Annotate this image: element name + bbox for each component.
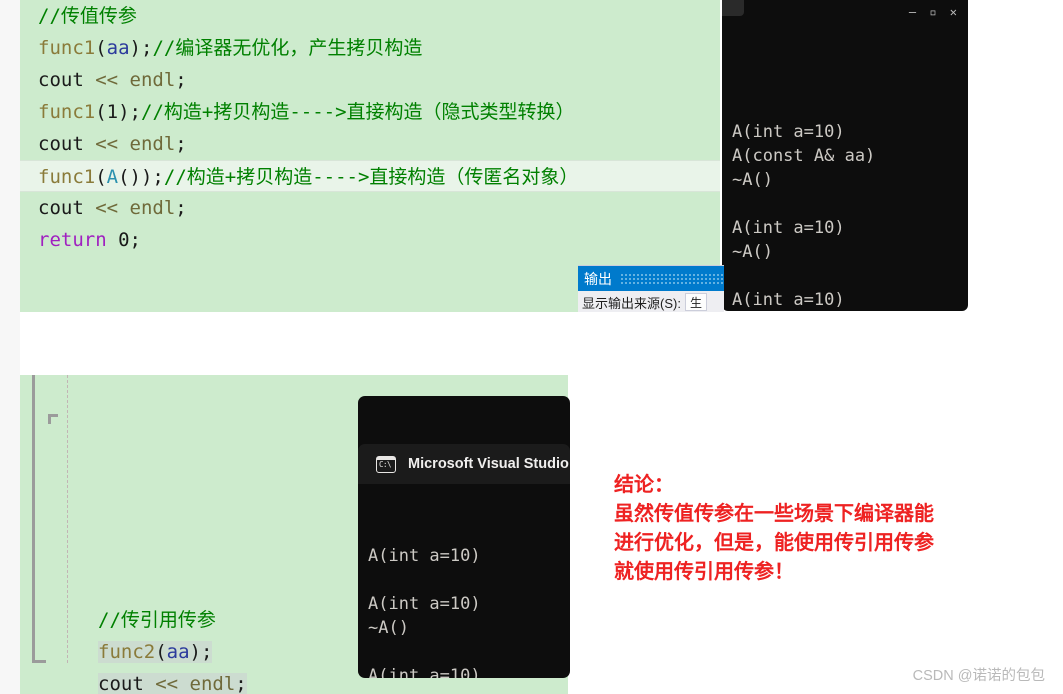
- code-token: <<: [95, 133, 129, 155]
- csdn-watermark: CSDN @诺诺的包包: [913, 664, 1045, 685]
- code-line[interactable]: func1(A());//构造+拷贝构造---->直接构造（传匿名对象）: [20, 160, 720, 192]
- code-token: endl: [190, 673, 236, 694]
- code-token: ;: [175, 69, 186, 91]
- code-line-text: func2(aa);: [98, 641, 212, 663]
- code-token: ;: [175, 133, 186, 155]
- code-line-text: cout << endl;: [38, 133, 187, 155]
- code-token: ());: [118, 166, 164, 188]
- code-line-text: cout << endl;: [38, 69, 187, 91]
- code-token: func1: [38, 166, 95, 188]
- code-token: (: [155, 641, 166, 663]
- console-line: A(int a=10): [732, 288, 968, 311]
- console-window-title: Microsoft Visual Studio: [408, 452, 569, 476]
- console-top-output: A(int a=10)A(const A& aa)~A()A(int a=10)…: [732, 120, 968, 311]
- code-line[interactable]: //传值传参: [20, 0, 720, 32]
- code-token: //编译器无优化，产生拷贝构造: [152, 37, 422, 59]
- code-token: cout: [38, 69, 95, 91]
- console-blank-line: [368, 640, 570, 664]
- console-line: A(int a=10): [368, 592, 570, 616]
- output-source-label: 显示输出来源(S):: [582, 293, 681, 312]
- console-line: A(const A& aa): [732, 144, 968, 168]
- code-token: cout: [98, 673, 155, 694]
- code-token: <<: [95, 69, 129, 91]
- screenshot-root: //传值传参func1(aa);//编译器无优化，产生拷贝构造cout << e…: [0, 0, 1063, 694]
- console-line: ~A(): [368, 616, 570, 640]
- code-token: (: [95, 166, 106, 188]
- code-line-text: return 0;: [38, 229, 141, 251]
- region-bracket-stem: [48, 414, 51, 424]
- code-token: 1: [107, 101, 118, 123]
- code-line[interactable]: cout << endl;: [20, 128, 720, 160]
- console-top-tab-stub: [722, 0, 744, 16]
- console-line: ~A(): [732, 168, 968, 192]
- output-toolbar: 显示输出来源(S): 生: [578, 291, 724, 312]
- console-line: ~A(): [732, 240, 968, 264]
- code-token: //传引用传参: [98, 609, 216, 631]
- code-token: return: [38, 229, 118, 251]
- code-token: ;: [235, 673, 246, 694]
- tab-output[interactable]: 输出: [584, 269, 612, 289]
- console-blank-line: [368, 568, 570, 592]
- code-line-text: func1(1);//构造+拷贝构造---->直接构造（隐式类型转换）: [38, 101, 575, 123]
- console-line: A(int a=10): [368, 544, 570, 568]
- conclusion-note: 结论： 虽然传值传参在一些场景下编译器能 进行优化，但是，能使用传引用传参 就使…: [614, 470, 1034, 586]
- code-line[interactable]: cout << endl;: [20, 64, 720, 96]
- code-token: func1: [38, 37, 95, 59]
- console-titlebar[interactable]: C:\ Microsoft Visual Studio: [358, 444, 570, 484]
- output-tabstrip[interactable]: 输出: [578, 266, 724, 291]
- code-token: ;: [130, 229, 141, 251]
- tabstrip-drag-dots[interactable]: [620, 273, 724, 285]
- code-token: 0: [118, 229, 129, 251]
- code-token: );: [130, 37, 153, 59]
- code-line-text: cout << endl;: [98, 673, 247, 694]
- code-token: aa: [167, 641, 190, 663]
- code-token: func1: [38, 101, 95, 123]
- code-line-text: func1(aa);//编译器无优化，产生拷贝构造: [38, 37, 422, 59]
- code-line[interactable]: func1(1);//构造+拷贝构造---->直接构造（隐式类型转换）: [20, 96, 720, 128]
- code-token: cout: [38, 197, 95, 219]
- console-line: A(int a=10): [368, 664, 570, 678]
- output-source-select[interactable]: 生: [685, 293, 707, 311]
- code-line-text: //传引用传参: [98, 609, 216, 631]
- code-line[interactable]: func1(aa);//编译器无优化，产生拷贝构造: [20, 32, 720, 64]
- code-token: );: [118, 101, 141, 123]
- command-prompt-icon: C:\: [376, 456, 396, 473]
- code-line-text: cout << endl;: [38, 197, 187, 219]
- console-blank-line: [732, 264, 968, 288]
- console-window-bottom[interactable]: C:\ Microsoft Visual Studio A(int a=10)A…: [358, 396, 570, 678]
- code-line[interactable]: return 0;: [20, 224, 720, 256]
- code-token: endl: [130, 197, 176, 219]
- code-token: <<: [95, 197, 129, 219]
- code-line[interactable]: cout << endl;: [20, 192, 720, 224]
- code-token: <<: [155, 673, 189, 694]
- command-prompt-icon-text: C:\: [379, 460, 394, 470]
- code-token: func2: [98, 641, 155, 663]
- console-line: A(int a=10): [732, 120, 968, 144]
- code-line-text: func1(A());//构造+拷贝构造---->直接构造（传匿名对象）: [38, 166, 578, 188]
- code-token: (: [95, 37, 106, 59]
- code-token: //构造+拷贝构造---->直接构造（传匿名对象）: [164, 166, 579, 188]
- code-token: ;: [175, 197, 186, 219]
- console-window-top[interactable]: — ▫ ✕ A(int a=10)A(const A& aa)~A()A(int…: [722, 0, 968, 311]
- console-bottom-output: A(int a=10)A(int a=10)~A()A(int a=10)~A(…: [358, 532, 570, 678]
- code-token: //传值传参: [38, 5, 137, 27]
- output-tool-window[interactable]: 输出 显示输出来源(S): 生: [578, 265, 724, 312]
- code-token: (: [95, 101, 106, 123]
- code-token: endl: [130, 133, 176, 155]
- code-token: aa: [107, 37, 130, 59]
- code-token: A: [107, 166, 118, 188]
- console-blank-line: [732, 192, 968, 216]
- code-line-text: //传值传参: [38, 5, 137, 27]
- window-controls-top[interactable]: — ▫ ✕: [909, 0, 960, 24]
- code-token: //构造+拷贝构造---->直接构造（隐式类型转换）: [141, 101, 575, 123]
- page-left-gutter: [0, 0, 20, 694]
- code-token: cout: [38, 133, 95, 155]
- code-token: endl: [130, 69, 176, 91]
- console-line: A(int a=10): [732, 216, 968, 240]
- code-token: );: [190, 641, 213, 663]
